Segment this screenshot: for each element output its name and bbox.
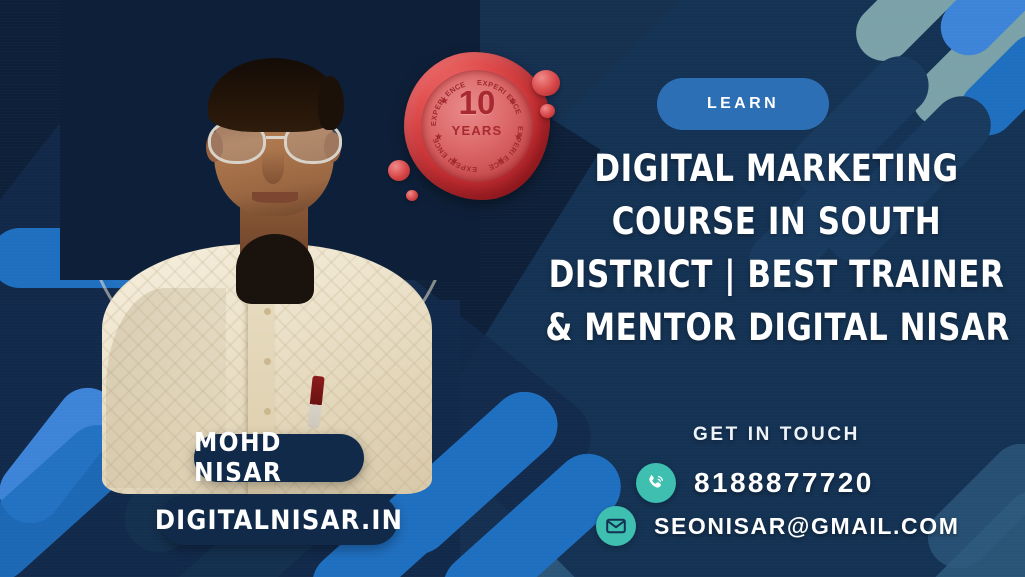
phone-number: 8188877720 xyxy=(694,467,874,499)
phone-icon xyxy=(636,463,676,503)
seal-star-icon: ★ xyxy=(508,96,517,107)
mouth xyxy=(252,192,298,203)
promotional-banner: EXPERIENCE EXPERIENCE EXPERIENCE EXPERIE… xyxy=(0,0,1025,577)
learn-badge[interactable]: LEARN xyxy=(657,78,829,130)
website-badge[interactable]: DIGITALNISAR.IN xyxy=(160,495,398,545)
jacket-button xyxy=(264,308,271,315)
portrait-photo xyxy=(96,58,436,488)
page-title: DIGITAL MARKETING COURSE IN SOUTH DISTRI… xyxy=(545,142,1007,354)
seal-star-icon: ★ xyxy=(434,132,443,143)
seal-star-icon: ★ xyxy=(450,156,459,167)
seal-star-icon: ★ xyxy=(496,156,505,167)
cta-heading: GET IN TOUCH xyxy=(528,424,1025,446)
mail-icon xyxy=(596,506,636,546)
inner-collar xyxy=(236,234,314,304)
email-address: SEONISAR@GMAIL.COM xyxy=(654,513,960,540)
seal-star-icon: ★ xyxy=(440,96,449,107)
contact-phone[interactable]: 8188877720 xyxy=(636,463,874,503)
glasses-bridge xyxy=(266,136,286,139)
headline-line-1: DIGITAL MARKETING xyxy=(545,142,1007,195)
jacket-button xyxy=(264,358,271,365)
person-name-badge: MOHD NISAR xyxy=(194,434,364,482)
jacket-button xyxy=(264,408,271,415)
wax-blob xyxy=(406,190,418,201)
headline-line-2: COURSE IN SOUTH xyxy=(545,195,1007,248)
wax-blob xyxy=(388,160,410,181)
headline-line-3: DISTRICT | BEST TRAINER xyxy=(545,248,1007,301)
contact-email[interactable]: SEONISAR@GMAIL.COM xyxy=(596,506,960,546)
content-column: LEARN DIGITAL MARKETING COURSE IN SOUTH … xyxy=(528,0,1025,577)
headline-line-4: & MENTOR DIGITAL NISAR xyxy=(545,301,1007,354)
seal-star-icon: ★ xyxy=(514,132,523,143)
hair xyxy=(208,58,340,132)
